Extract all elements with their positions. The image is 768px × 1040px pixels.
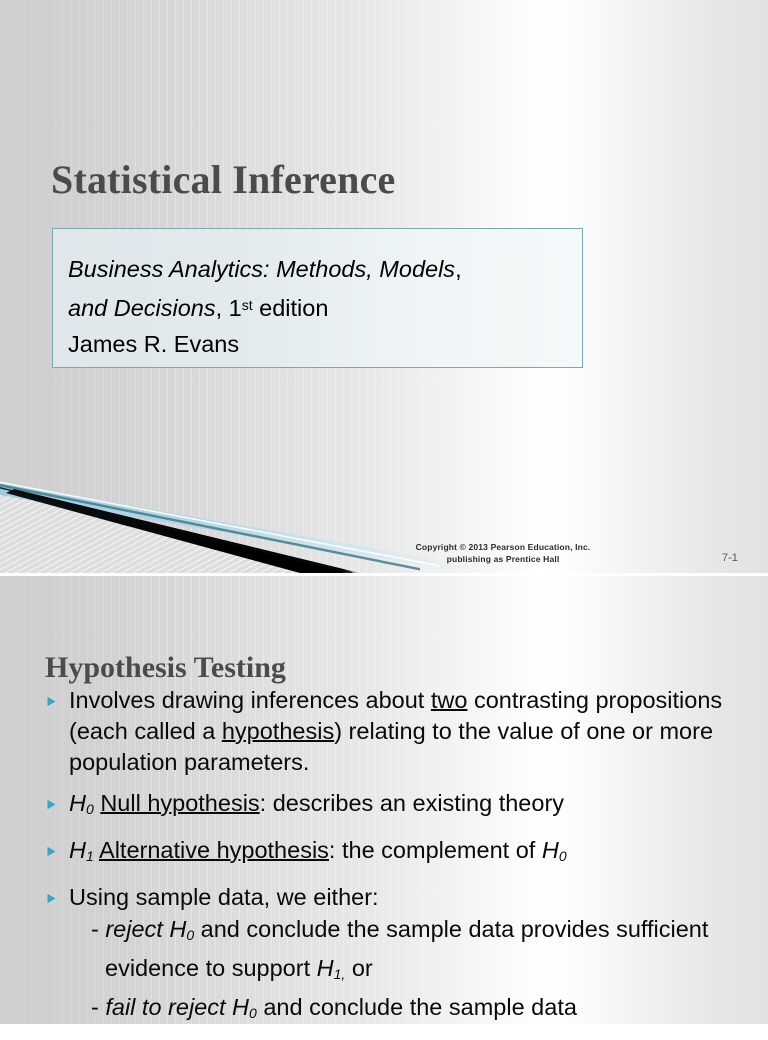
text-segment: fail to reject H: [105, 994, 249, 1020]
section-heading: Hypothesis Testing: [45, 651, 286, 684]
page-title: Statistical Inference: [51, 158, 396, 202]
book-reference-text: Business Analytics: Methods, Models, and…: [68, 251, 568, 362]
book-title-line-1: Business Analytics: Methods, Models: [68, 256, 455, 282]
bullet-definition: Involves drawing inferences about two co…: [46, 685, 758, 778]
edition-ordinal-suffix: st: [242, 297, 253, 313]
bullet-paragraph: Using sample data, we either:: [69, 882, 758, 913]
text-segment: two: [431, 687, 468, 713]
bullet-using-sample-data: Using sample data, we either:- reject H0…: [46, 882, 758, 1030]
text-segment: and conclude the sample data provides su…: [105, 916, 708, 981]
book-title-line-2: and Decisions: [68, 295, 216, 321]
triangle-bullet-icon: [46, 846, 57, 857]
text-segment: : describes an existing theory: [260, 790, 564, 816]
bullet-paragraph: H1 Alternative hypothesis: the complemen…: [69, 835, 758, 872]
text-segment: 0: [559, 848, 567, 864]
text-segment: -: [91, 994, 105, 1020]
triangle-bullet-icon: [46, 696, 57, 707]
text-segment: or: [345, 955, 372, 981]
text-segment: 0: [249, 1005, 257, 1021]
bullet-text: Using sample data, we either:- reject H0…: [69, 882, 758, 1030]
copyright-notice: Copyright © 2013 Pearson Education, Inc.…: [403, 541, 603, 565]
triangle-bullet-icon: [46, 799, 57, 810]
bullet-list: Involves drawing inferences about two co…: [46, 685, 758, 1040]
bullet-paragraph: Involves drawing inferences about two co…: [69, 685, 758, 778]
text-segment: H: [69, 837, 86, 863]
book-author: James R. Evans: [68, 331, 239, 357]
text-segment: -: [91, 916, 105, 942]
text-segment: 1,: [334, 966, 346, 982]
slide-deck: Statistical Inference Business Analytics…: [0, 0, 768, 1024]
subpoint-fail-to-reject: - fail to reject H0 and conclude the sam…: [91, 991, 758, 1030]
bullet-alternative-hypothesis: H1 Alternative hypothesis: the complemen…: [46, 835, 758, 872]
text-segment: Alternative hypothesis: [99, 837, 329, 863]
triangle-bullet-icon: [46, 893, 57, 904]
bullet-text: H1 Alternative hypothesis: the complemen…: [69, 835, 758, 872]
text-segment: and conclude the sample data: [257, 994, 577, 1020]
text-segment: 0: [186, 927, 194, 943]
edition-prefix: , 1: [216, 295, 242, 321]
bullet-paragraph: H0 Null hypothesis: describes an existin…: [69, 788, 758, 825]
text-segment: H: [317, 955, 334, 981]
text-segment: H: [542, 837, 559, 863]
bullet-null-hypothesis: H0 Null hypothesis: describes an existin…: [46, 788, 758, 825]
text-segment: : the complement of: [329, 837, 542, 863]
edition-suffix: edition: [253, 295, 329, 321]
bullet-text: Involves drawing inferences about two co…: [69, 685, 758, 778]
text-segment: 1: [86, 848, 94, 864]
text-segment: reject H: [105, 916, 186, 942]
slide-title: Statistical Inference Business Analytics…: [0, 0, 768, 573]
subpoint-reject: - reject H0 and conclude the sample data…: [91, 913, 758, 991]
copyright-line-1: Copyright © 2013 Pearson Education, Inc.: [403, 541, 603, 553]
book-title-comma: ,: [455, 256, 462, 282]
text-segment: hypothesis: [222, 718, 334, 744]
text-segment: Null hypothesis: [100, 790, 259, 816]
text-segment: Involves drawing inferences about: [69, 687, 431, 713]
diagonal-band-decoration: [0, 473, 768, 573]
text-segment: 0: [86, 801, 94, 817]
text-segment: H: [69, 790, 86, 816]
copyright-line-2: publishing as Prentice Hall: [403, 553, 603, 565]
subtitle-callout-box: Business Analytics: Methods, Models, and…: [52, 228, 583, 368]
bullet-text: H0 Null hypothesis: describes an existin…: [69, 788, 758, 825]
text-segment: Using sample data, we either:: [69, 884, 379, 910]
slide-number: 7-1: [722, 552, 738, 564]
